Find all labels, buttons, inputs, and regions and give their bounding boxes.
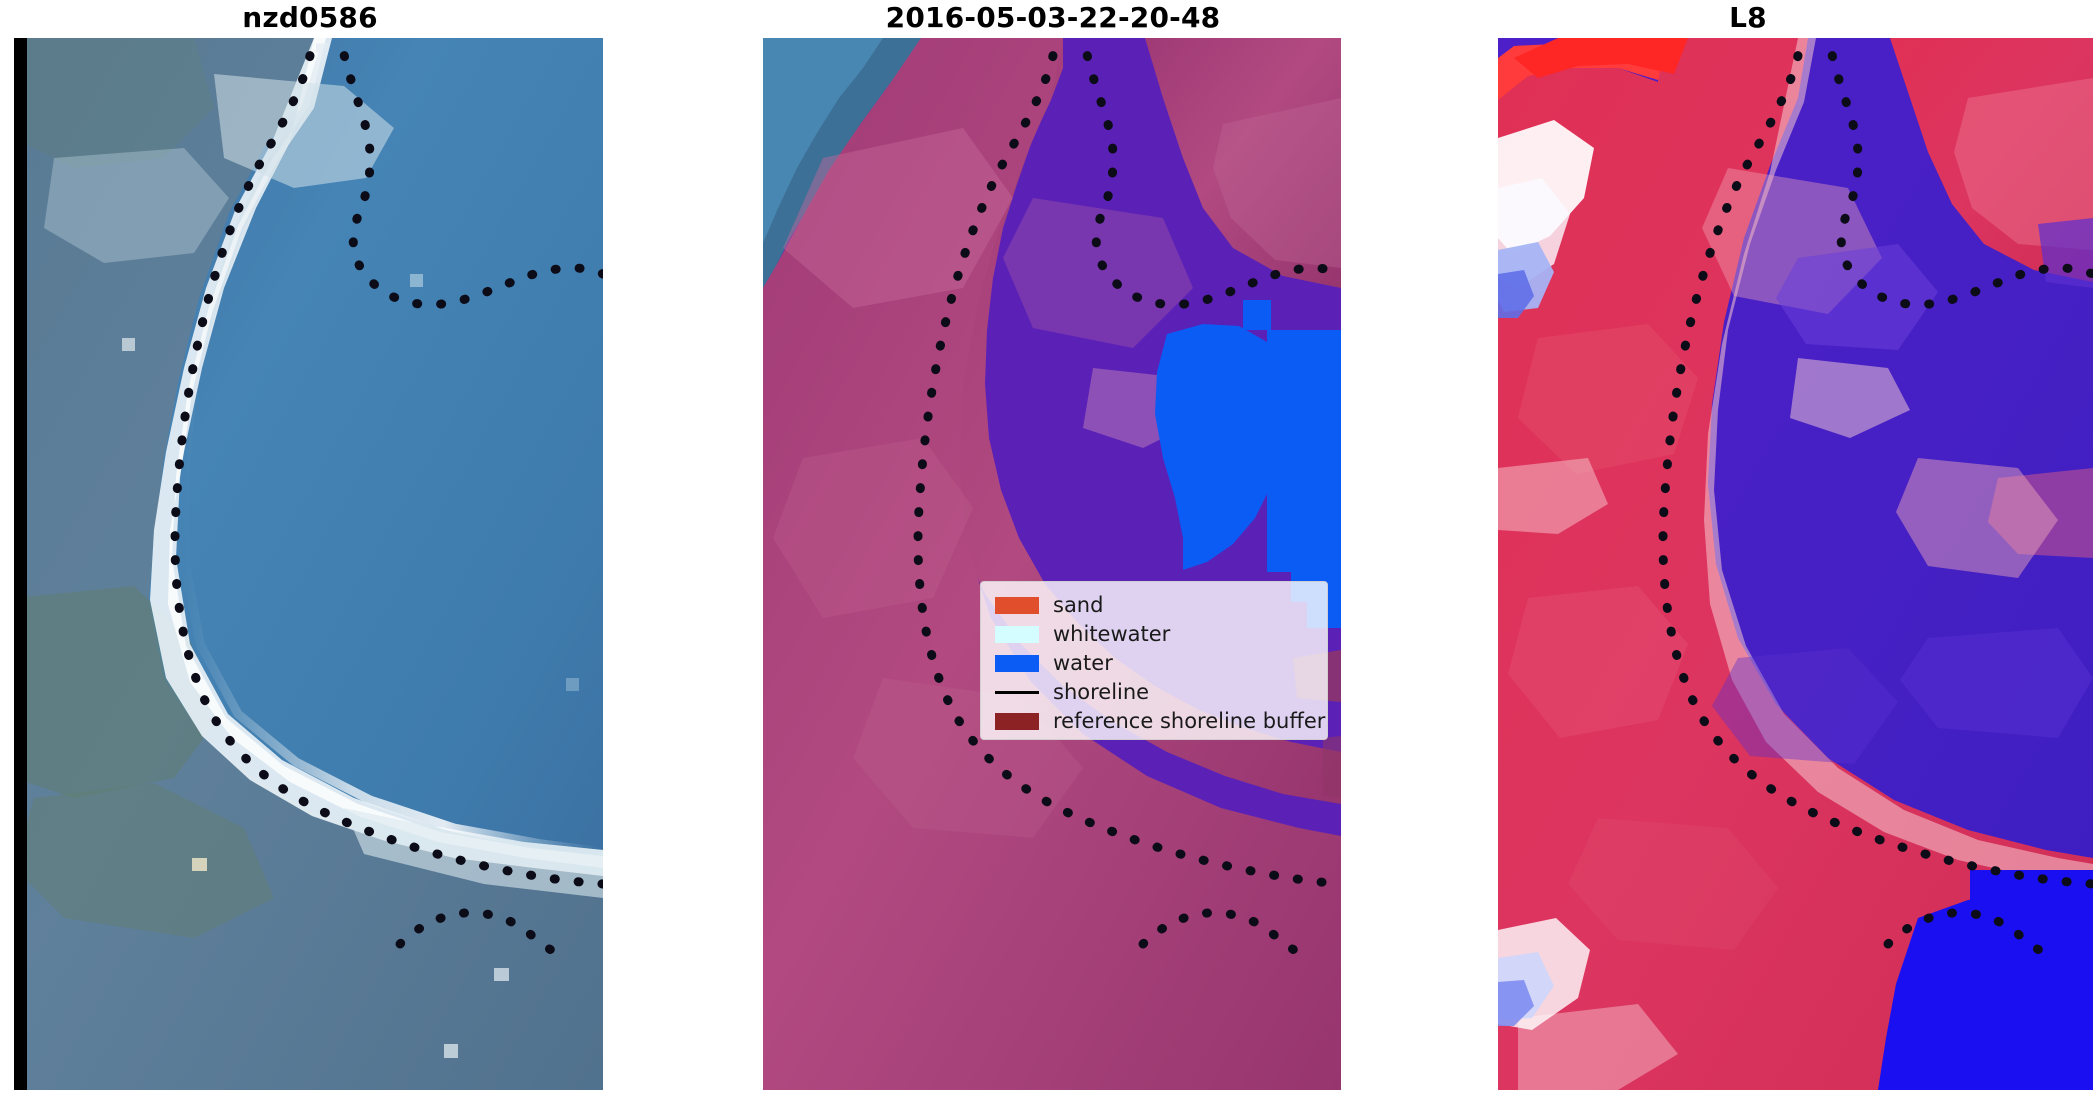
index-raster <box>1498 38 2093 1090</box>
panel-classification: 2016-05-03-22-20-48 <box>703 0 1403 1108</box>
panel-rgb-image <box>14 38 603 1090</box>
water-swatch-icon <box>995 655 1039 672</box>
legend-box: sand whitewater water shoreline referenc… <box>980 581 1328 740</box>
figure-canvas: nzd0586 <box>0 0 2093 1108</box>
shoreline-line-icon <box>995 684 1039 701</box>
legend-label-sand: sand <box>1053 595 1103 616</box>
panel-index: L8 <box>1403 0 2093 1108</box>
legend-label-water: water <box>1053 653 1113 674</box>
legend-item-shoreline[interactable]: shoreline <box>991 678 1317 707</box>
panel-classification-image <box>763 38 1341 1090</box>
panel-rgb-title: nzd0586 <box>0 0 620 36</box>
panel-index-image <box>1498 38 2093 1090</box>
reference-shoreline-buffer-swatch-icon <box>995 713 1039 730</box>
panel-rgb-left-black-bar <box>14 38 27 1090</box>
legend-item-water[interactable]: water <box>991 649 1317 678</box>
classification-raster <box>763 38 1341 1090</box>
legend-label-reference-shoreline-buffer: reference shoreline buffer <box>1053 711 1325 732</box>
legend-label-shoreline: shoreline <box>1053 682 1149 703</box>
rgb-raster <box>14 38 603 1090</box>
panel-rgb: nzd0586 <box>0 0 620 1108</box>
sand-swatch-icon <box>995 597 1039 614</box>
panel-index-title: L8 <box>1403 0 2093 36</box>
panel-classification-title: 2016-05-03-22-20-48 <box>703 0 1403 36</box>
legend-item-whitewater[interactable]: whitewater <box>991 620 1317 649</box>
legend-item-sand[interactable]: sand <box>991 591 1317 620</box>
whitewater-swatch-icon <box>995 626 1039 643</box>
legend-label-whitewater: whitewater <box>1053 624 1170 645</box>
legend-item-reference-shoreline-buffer[interactable]: reference shoreline buffer <box>991 707 1317 736</box>
